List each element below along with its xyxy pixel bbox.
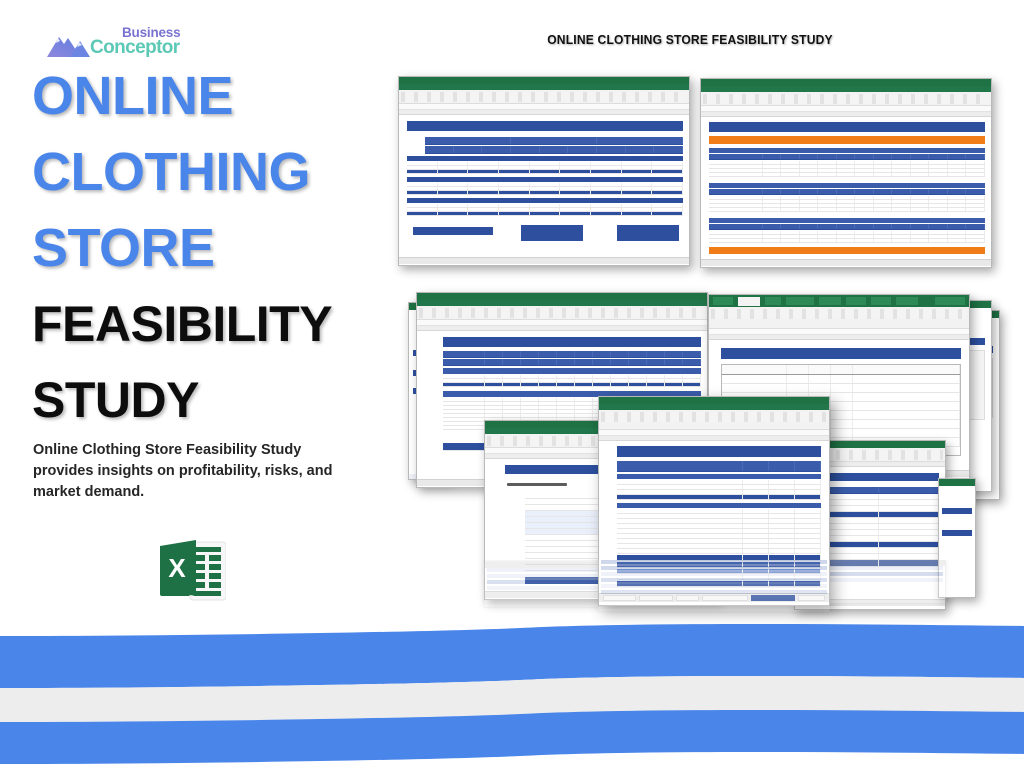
column-group-header (425, 137, 683, 145)
group-label-charges (617, 503, 821, 508)
spreadsheet-window-revenue-calc[interactable] (398, 76, 690, 266)
sheet-title-banner (709, 122, 985, 132)
brand-logo[interactable]: Business Conceptor (46, 26, 196, 60)
data-rows-charges (617, 509, 821, 554)
header-title: ONLINE CLOTHING STORE FEASIBILITY STUDY (476, 32, 904, 47)
month-header-row (443, 351, 701, 358)
section-label-2 (407, 177, 683, 182)
year-band-1 (709, 136, 985, 144)
ribbon[interactable] (599, 410, 829, 430)
brand-word-bottom: Conceptor (90, 38, 180, 57)
ribbon[interactable] (709, 307, 969, 329)
sheet-title-banner (819, 473, 939, 481)
status-bar (701, 259, 991, 266)
total-revenue-label (413, 227, 493, 235)
data-rows-y3 (709, 231, 985, 243)
column-header-row (425, 146, 683, 154)
month-header-row-2 (709, 189, 985, 195)
slide-canvas: Business Conceptor ONLINE CLOTHING STORE… (0, 0, 1024, 768)
table-caption-2 (709, 183, 985, 188)
wave-decoration (0, 620, 1024, 768)
sheet-grid[interactable] (701, 117, 991, 259)
status-bar (399, 257, 689, 264)
progression-button-2[interactable] (617, 225, 679, 241)
spreadsheet-collage (390, 60, 1010, 620)
sheet-title-banner (617, 446, 821, 457)
table-caption-3 (709, 218, 985, 223)
data-rows-revenue (617, 480, 821, 500)
sheet-title-banner (407, 121, 683, 131)
data-rows-y2 (709, 196, 985, 212)
title-line-2: CLOTHING (32, 134, 372, 210)
section-label-3 (407, 198, 683, 203)
subsection-label (507, 483, 567, 486)
title-line-5: STUDY (32, 362, 372, 438)
progression-button-1[interactable] (521, 225, 583, 241)
ribbon-tabs[interactable] (709, 295, 969, 307)
brand-wordmark: Business Conceptor (90, 26, 180, 57)
ribbon[interactable] (399, 90, 689, 104)
month-subheader-row (443, 359, 701, 366)
page-title: ONLINE CLOTHING STORE FEASIBILITY STUDY (32, 58, 372, 438)
title-line-4: FEASIBILITY (32, 286, 372, 362)
sheet-grid[interactable] (399, 115, 689, 257)
group-label-revenue (617, 474, 821, 479)
title-line-3: STORE (32, 210, 372, 286)
month-header-row-3 (709, 224, 985, 230)
share-button[interactable] (935, 297, 965, 305)
ribbon[interactable] (417, 306, 707, 320)
title-line-1: ONLINE (32, 58, 372, 134)
sheet-title-banner (721, 348, 961, 359)
year-band-2 (709, 247, 985, 254)
data-rows-in (443, 375, 701, 387)
title-bar (417, 293, 707, 300)
svg-text:X: X (168, 553, 186, 583)
month-header-row-1 (709, 154, 985, 160)
title-bar (399, 77, 689, 84)
data-rows-3 (407, 204, 683, 216)
data-rows (819, 487, 939, 567)
excel-icon: X (160, 540, 226, 602)
section-label-1 (407, 156, 683, 161)
table-caption-1 (709, 148, 985, 153)
sheet-title-banner (443, 337, 701, 347)
title-bar (599, 397, 829, 404)
data-rows-y1 (709, 161, 985, 177)
ribbon[interactable] (701, 92, 991, 106)
title-bar (939, 479, 975, 486)
title-bar (701, 79, 991, 86)
data-rows-2 (407, 183, 683, 195)
hero-subtitle: Online Clothing Store Feasibility Study … (33, 440, 351, 503)
table-header-row (617, 461, 821, 472)
data-rows-1 (407, 162, 683, 174)
group-label-encaissements (443, 368, 701, 374)
spreadsheet-window-monthly-breakdown[interactable] (700, 78, 992, 268)
